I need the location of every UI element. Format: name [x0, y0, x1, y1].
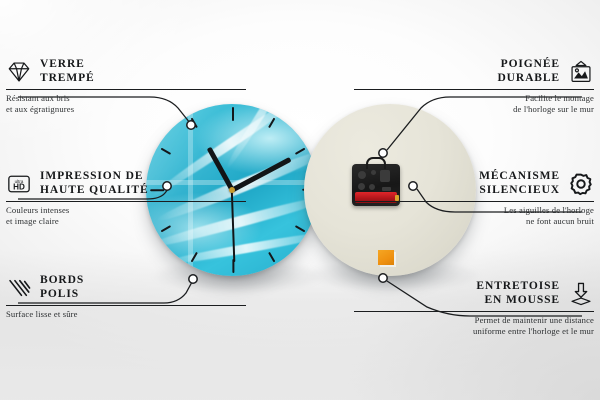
feature-title: IMPRESSION DE HAUTE QUALITÉ	[40, 170, 149, 197]
feature-mecanisme-silencieux: MÉCANISME SILENCIEUX Les aiguilles de l'…	[354, 170, 594, 226]
feature-title: MÉCANISME SILENCIEUX	[479, 170, 560, 197]
infographic-canvas: VERRE TREMPÉ Résistant aux bris et aux é…	[0, 0, 600, 400]
svg-text:HD: HD	[13, 182, 25, 191]
feature-entretoise-en-mousse: ENTRETOISE EN MOUSSE Permet de maintenir…	[354, 280, 594, 336]
gear-icon	[568, 171, 594, 197]
hanging-hook	[366, 157, 386, 169]
feature-verre-trempe: VERRE TREMPÉ Résistant aux bris et aux é…	[6, 58, 246, 114]
feature-header: ultra HD IMPRESSION DE HAUTE QUALITÉ	[6, 170, 246, 197]
feature-rule	[6, 305, 246, 306]
foam-spacer	[378, 250, 394, 265]
feature-subtitle: Les aiguilles de l'horloge ne font aucun…	[354, 205, 594, 226]
feature-header: ENTRETOISE EN MOUSSE	[354, 280, 594, 307]
feature-title: BORDS POLIS	[40, 274, 84, 301]
feature-title: POIGNÉE DURABLE	[497, 58, 560, 85]
feature-rule	[354, 89, 594, 90]
diamond-icon	[6, 59, 32, 85]
feature-title: ENTRETOISE EN MOUSSE	[476, 280, 560, 307]
feature-rule	[6, 89, 246, 90]
feature-subtitle: Couleurs intenses et image claire	[6, 205, 246, 226]
polished-edges-icon	[6, 275, 32, 301]
feature-rule	[354, 311, 594, 312]
hanging-frame-icon	[568, 59, 594, 85]
feature-title: VERRE TREMPÉ	[40, 58, 95, 85]
feature-subtitle: Facilite le montage de l'horloge sur le …	[354, 93, 594, 114]
feature-header: BORDS POLIS	[6, 274, 246, 301]
feature-rule	[6, 201, 246, 202]
feature-header: MÉCANISME SILENCIEUX	[354, 170, 594, 197]
feature-subtitle: Résistant aux bris et aux égratignures	[6, 93, 246, 114]
feature-impression-haute-qualite: ultra HD IMPRESSION DE HAUTE QUALITÉ Cou…	[6, 170, 246, 226]
feature-subtitle: Surface lisse et sûre	[6, 309, 246, 320]
feature-header: VERRE TREMPÉ	[6, 58, 246, 85]
feature-header: POIGNÉE DURABLE	[354, 58, 594, 85]
feature-poignee-durable: POIGNÉE DURABLE Facilite le montage de l…	[354, 58, 594, 114]
feature-subtitle: Permet de maintenir une distance uniform…	[354, 315, 594, 336]
foam-spacer-arrow-icon	[568, 281, 594, 307]
ultra-hd-badge-icon: ultra HD	[6, 171, 32, 197]
feature-rule	[354, 201, 594, 202]
feature-bords-polis: BORDS POLIS Surface lisse et sûre	[6, 274, 246, 320]
